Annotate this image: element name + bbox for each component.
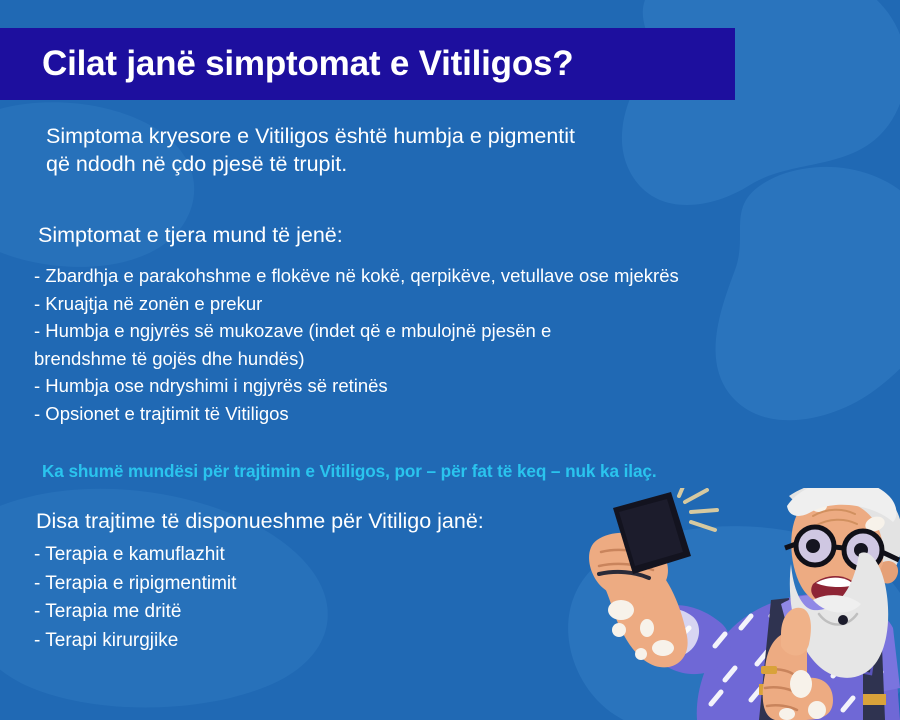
intro-paragraph: Simptoma kryesore e Vitiligos është humb… — [0, 100, 900, 178]
other-symptoms-heading: Simptomat e tjera mund të jenë: — [0, 178, 900, 248]
list-item: - Terapi kirurgjike — [34, 627, 900, 656]
highlight-statement: Ka shumë mundësi për trajtimin e Vitilig… — [0, 427, 900, 482]
slide-canvas: Cilat janë simptomat e Vitiligos? Simpto… — [0, 0, 900, 720]
treatments-heading: Disa trajtime të disponueshme për Vitili… — [0, 482, 900, 534]
list-item: - Humbja e ngjyrës së mukozave (indet që… — [34, 317, 900, 372]
list-item: - Terapia me dritë — [34, 598, 900, 627]
list-item: - Terapia e ripigmentimit — [34, 570, 900, 599]
symptoms-list: - Zbardhja e parakohshme e flokëve në ko… — [0, 248, 900, 427]
content-area: Simptoma kryesore e Vitiligos është humb… — [0, 100, 900, 655]
list-item: - Terapia e kamuflazhit — [34, 541, 900, 570]
list-item: - Zbardhja e parakohshme e flokëve në ko… — [34, 262, 900, 290]
list-item: - Humbja ose ndryshimi i ngjyrës së reti… — [34, 372, 900, 400]
list-item: - Kruajtja në zonën e prekur — [34, 290, 900, 318]
treatments-list: - Terapia e kamuflazhit - Terapia e ripi… — [0, 534, 900, 655]
page-title: Cilat janë simptomat e Vitiligos? — [0, 44, 573, 84]
list-item: - Opsionet e trajtimit të Vitiligos — [34, 400, 900, 428]
title-banner: Cilat janë simptomat e Vitiligos? — [0, 28, 735, 100]
